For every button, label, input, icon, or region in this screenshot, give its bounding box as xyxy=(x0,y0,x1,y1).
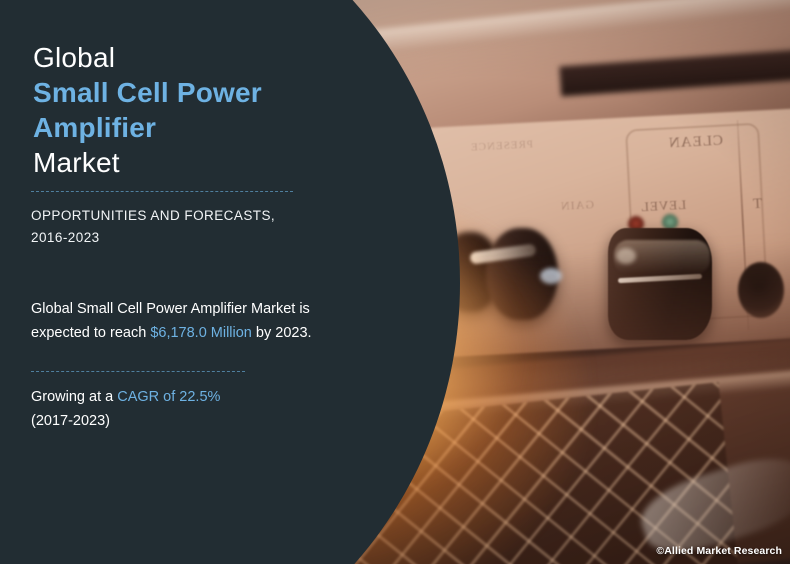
cagr-statement: Growing at a CAGR of 22.5% (2017-2023) xyxy=(31,385,331,433)
title-line-amplifier: Amplifier xyxy=(33,110,323,145)
market-value-highlight: $6,178.0 Million xyxy=(150,325,252,341)
content-area: Global Small Cell Power Amplifier Market… xyxy=(0,0,330,564)
title-line-market: Market xyxy=(33,145,323,180)
subtitle-line-1: OPPORTUNITIES AND FORECASTS, xyxy=(31,205,321,227)
cagr-period: (2017-2023) xyxy=(31,409,331,433)
title-line-small-cell-power: Small Cell Power xyxy=(33,75,323,110)
title-line-global: Global xyxy=(33,40,323,75)
market-value-text-tail: by 2023. xyxy=(252,325,312,341)
copyright-credit: ©Allied Market Research xyxy=(656,545,782,557)
page-title: Global Small Cell Power Amplifier Market xyxy=(33,40,323,180)
cagr-text-lead: Growing at a xyxy=(31,389,117,405)
market-value-statement: Global Small Cell Power Amplifier Market… xyxy=(31,297,331,345)
divider-bottom xyxy=(31,371,245,372)
cagr-highlight: CAGR of 22.5% xyxy=(117,389,220,405)
subtitle: OPPORTUNITIES AND FORECASTS, 2016-2023 xyxy=(31,205,321,249)
divider-top xyxy=(31,191,293,192)
infographic-banner: PRESENCE CLEAN GAIN LEVEL T 0 Global xyxy=(0,0,790,564)
subtitle-line-2: 2016-2023 xyxy=(31,227,321,249)
